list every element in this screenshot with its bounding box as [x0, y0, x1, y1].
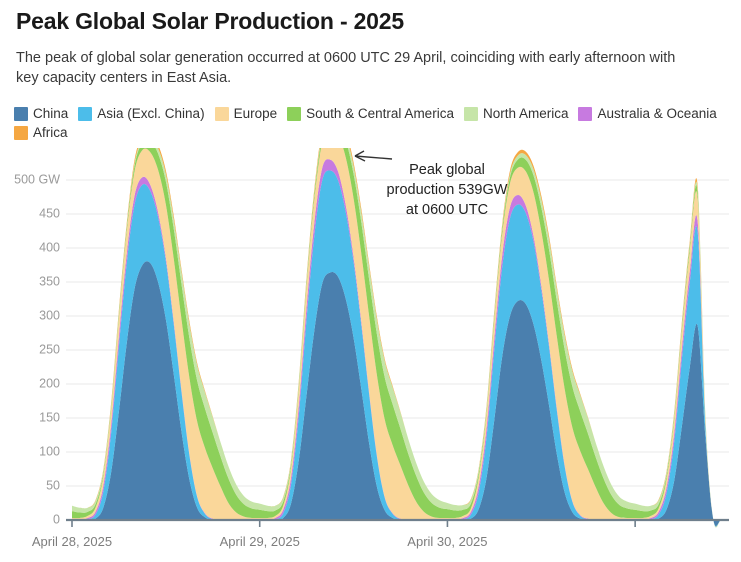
legend-item-label: Australia & Oceania	[597, 106, 716, 122]
legend-item-label: Asia (Excl. China)	[97, 106, 204, 122]
x-axis-tick-label: April 30, 2025	[407, 534, 487, 549]
legend-item[interactable]: Asia (Excl. China)	[78, 106, 204, 122]
legend-item[interactable]: Europe	[215, 106, 278, 122]
legend-item-label: South & Central America	[306, 106, 454, 122]
y-axis-tick-label: 400	[39, 240, 60, 254]
legend-item[interactable]: China	[14, 106, 68, 122]
legend-item-label: Europe	[234, 106, 278, 122]
chart-subtitle: The peak of global solar generation occu…	[16, 48, 676, 88]
y-axis-tick-label: 150	[39, 410, 60, 424]
y-axis-tick-label: 300	[39, 308, 60, 322]
peak-annotation-line: Peak global	[409, 162, 485, 178]
plot-area: 050100150200250300350400450500 GWApril 2…	[0, 148, 741, 562]
y-axis-tick-label: 500 GW	[14, 172, 60, 186]
y-axis-tick-label: 200	[39, 376, 60, 390]
legend-swatch-icon	[287, 107, 301, 121]
legend-swatch-icon	[14, 126, 28, 140]
chart-page: Peak Global Solar Production - 2025 The …	[0, 0, 741, 562]
legend-item[interactable]: Australia & Oceania	[578, 106, 716, 122]
legend-swatch-icon	[464, 107, 478, 121]
arrow-left-icon	[355, 151, 392, 161]
legend-swatch-icon	[578, 107, 592, 121]
peak-annotation-line: production 539GW	[387, 182, 508, 198]
chart-legend: ChinaAsia (Excl. China)EuropeSouth & Cen…	[14, 106, 729, 144]
y-axis-tick-label: 100	[39, 444, 60, 458]
peak-annotation-line: at 0600 UTC	[406, 202, 488, 218]
legend-item-label: North America	[483, 106, 569, 122]
x-axis-tick-label: April 29, 2025	[220, 534, 300, 549]
legend-item[interactable]: Africa	[14, 125, 68, 141]
page-title: Peak Global Solar Production - 2025	[16, 8, 404, 35]
y-axis-tick-label: 250	[39, 342, 60, 356]
legend-item-label: Africa	[33, 125, 68, 141]
stacked-area-chart: 050100150200250300350400450500 GWApril 2…	[0, 148, 741, 562]
y-axis-tick-label: 350	[39, 274, 60, 288]
legend-item[interactable]: North America	[464, 106, 569, 122]
x-axis-tick-label: April 28, 2025	[32, 534, 112, 549]
y-axis-tick-label: 50	[46, 478, 60, 492]
y-axis-tick-label: 0	[53, 512, 60, 526]
legend-item-label: China	[33, 106, 68, 122]
legend-item[interactable]: South & Central America	[287, 106, 454, 122]
legend-swatch-icon	[14, 107, 28, 121]
legend-swatch-icon	[78, 107, 92, 121]
legend-swatch-icon	[215, 107, 229, 121]
y-axis-tick-label: 450	[39, 206, 60, 220]
